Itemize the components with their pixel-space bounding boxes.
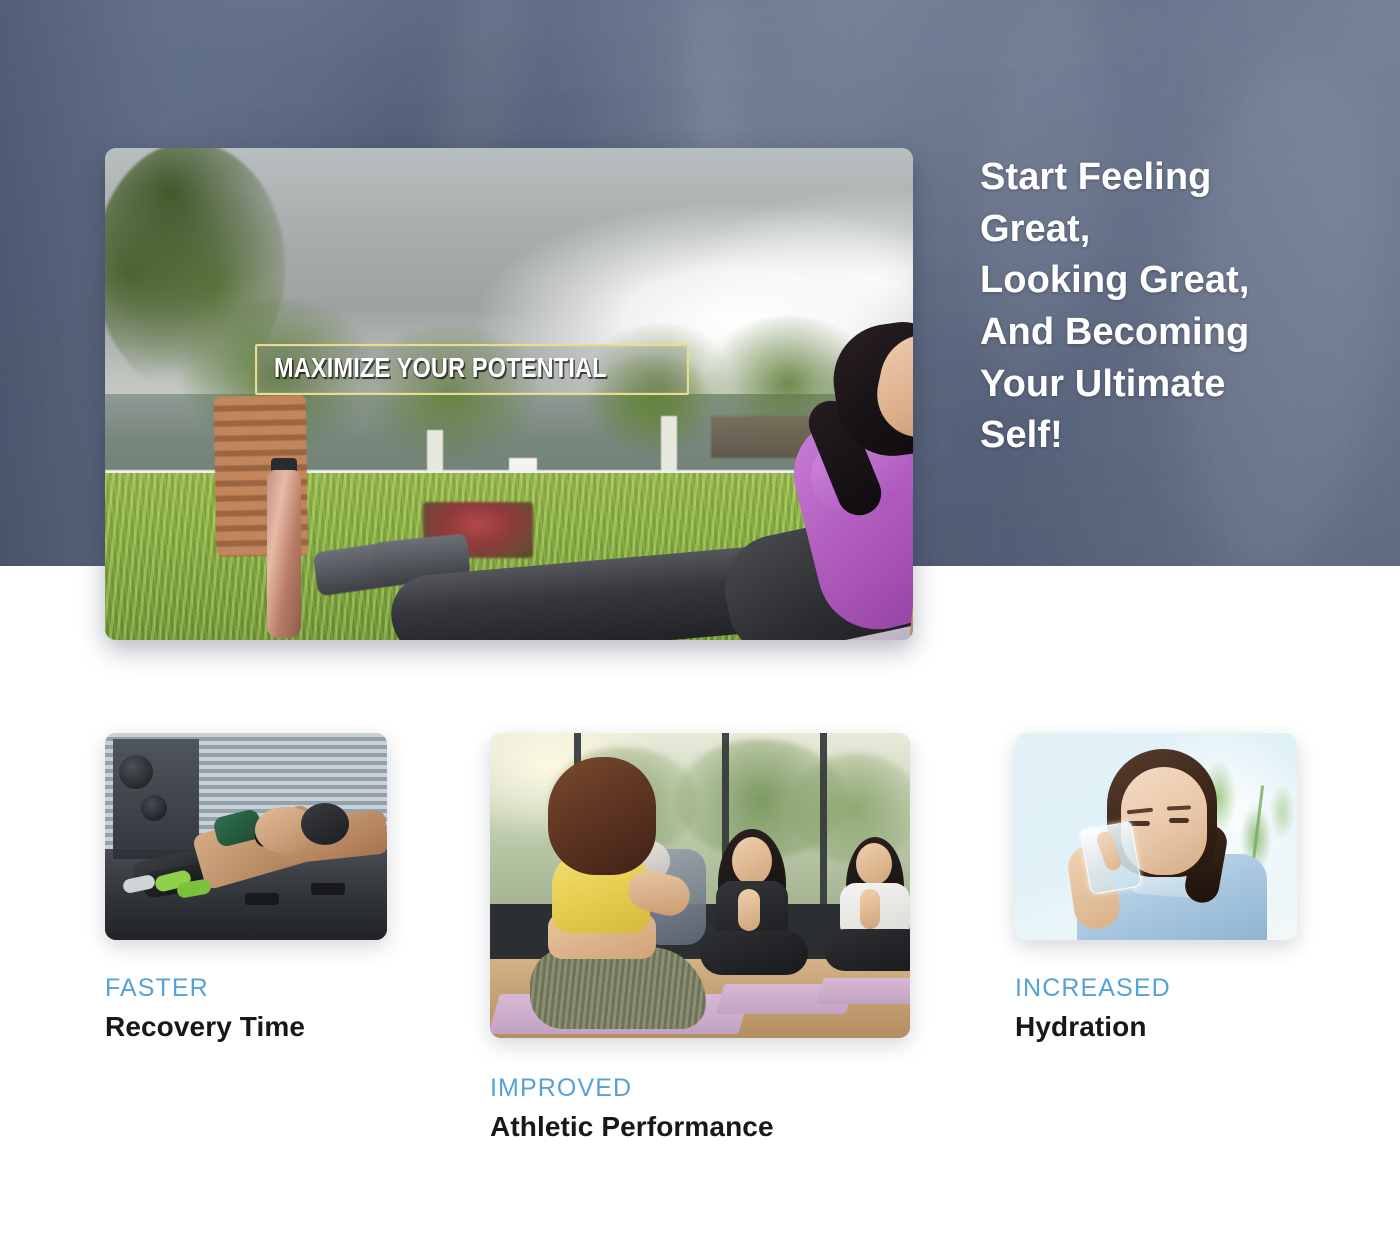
student-legs xyxy=(824,929,910,971)
feature-eyebrow: INCREASED xyxy=(1015,976,1297,1001)
feature-image-gym-workout xyxy=(105,733,387,940)
feature-caption: IMPROVED Athletic Performance xyxy=(490,1076,910,1143)
closed-eye xyxy=(1169,818,1189,823)
feature-eyebrow: IMPROVED xyxy=(490,1076,910,1101)
feature-card-performance[interactable]: IMPROVED Athletic Performance xyxy=(490,733,910,1143)
headline-line: Your Ultimate xyxy=(980,359,1340,411)
headline-line: Self! xyxy=(980,410,1340,462)
feature-image-yoga-class xyxy=(490,733,910,1038)
feature-title: Athletic Performance xyxy=(490,1111,910,1143)
feature-eyebrow: FASTER xyxy=(105,976,387,1001)
feature-image-drinking-water xyxy=(1015,733,1297,940)
feature-card-hydration[interactable]: INCREASED Hydration xyxy=(1015,733,1297,1043)
prayer-hands xyxy=(738,889,760,931)
feature-title: Recovery Time xyxy=(105,1011,387,1043)
athlete-head xyxy=(301,803,349,845)
headline-line: And Becoming xyxy=(980,307,1340,359)
hydration-scene xyxy=(1015,733,1297,940)
student-head xyxy=(856,843,892,885)
feature-card-recovery[interactable]: FASTER Recovery Time xyxy=(105,733,387,1043)
weight-plate-icon xyxy=(119,755,153,789)
video-caption-badge: MAXIMIZE YOUR POTENTIAL xyxy=(255,344,689,395)
instructor-hair xyxy=(548,757,656,875)
student-legs xyxy=(700,931,808,975)
hero-video-card[interactable]: MAXIMIZE YOUR POTENTIAL xyxy=(105,148,913,640)
hero-headline: Start Feeling Great, Looking Great, And … xyxy=(980,152,1340,462)
water-bottle xyxy=(267,470,301,638)
feature-title: Hydration xyxy=(1015,1011,1297,1043)
feature-caption: INCREASED Hydration xyxy=(1015,976,1297,1043)
headline-line: Looking Great, xyxy=(980,255,1340,307)
student-head xyxy=(732,837,772,885)
gym-scene xyxy=(105,733,387,940)
feature-caption: FASTER Recovery Time xyxy=(105,976,387,1043)
headline-line: Start Feeling xyxy=(980,152,1340,204)
dumbbell xyxy=(245,893,279,905)
prayer-hands xyxy=(860,889,880,929)
headline-line: Great, xyxy=(980,204,1340,256)
video-caption-text: MAXIMIZE YOUR POTENTIAL xyxy=(274,354,607,382)
weight-plate-icon xyxy=(141,795,167,821)
window-mullion xyxy=(820,733,827,928)
dumbbell xyxy=(311,883,345,895)
instructor-leggings xyxy=(530,947,706,1029)
yoga-mat xyxy=(816,978,910,1004)
yoga-studio-scene xyxy=(490,733,910,1038)
